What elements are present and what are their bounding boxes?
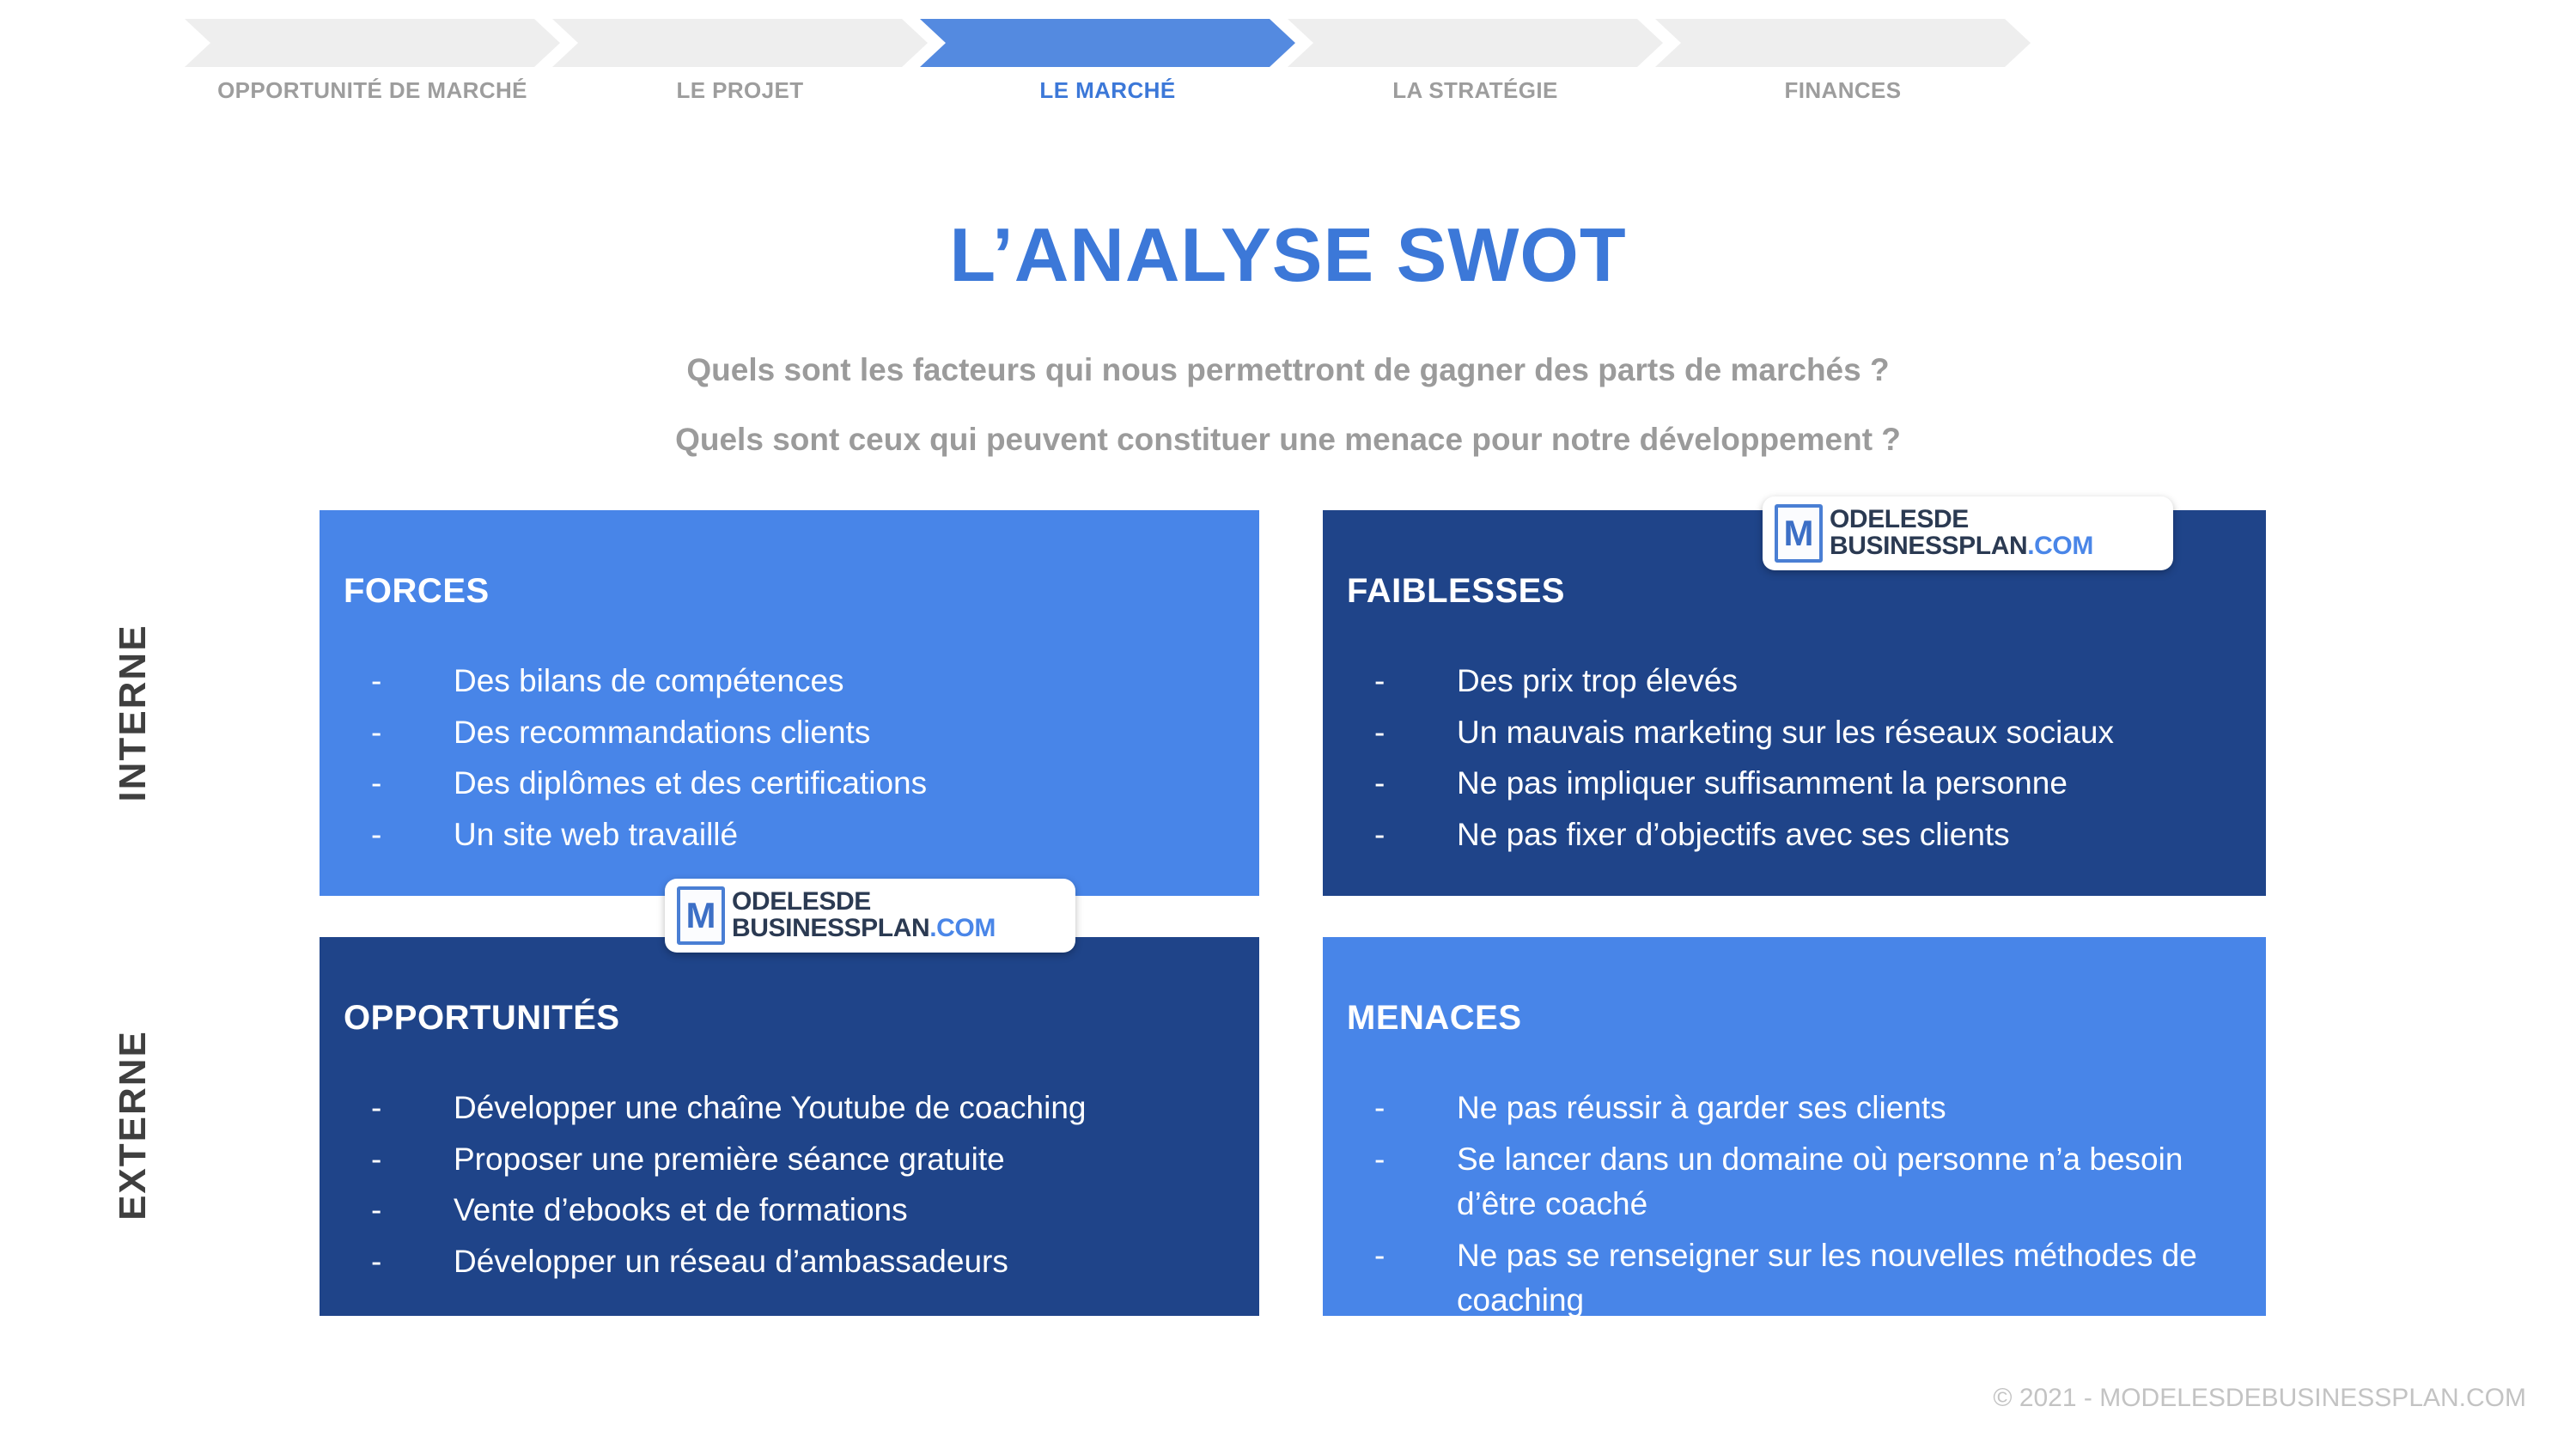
bullet-marker: - xyxy=(1374,659,1457,704)
step-label-la-strategie[interactable]: LA STRATÉGIE xyxy=(1288,77,1663,104)
logo-badge-top: M ODELESDE BUSINESSPLAN.COM xyxy=(1763,496,2173,570)
list-item-label: Vente d’ebooks et de formations xyxy=(454,1188,1247,1233)
step-chevron-le-projet[interactable] xyxy=(552,19,928,67)
bullet-marker: - xyxy=(1374,1330,1457,1375)
step-chevron-le-marche[interactable] xyxy=(920,19,1295,67)
list-item: - Se lancer dans un domaine où personne … xyxy=(1374,1137,2254,1227)
list-item: - Ne pas réussir à garder ses clients xyxy=(1374,1086,2254,1131)
quadrant-menaces: MENACES - Ne pas réussir à garder ses cl… xyxy=(1323,937,2266,1316)
step-label-le-marche[interactable]: LE MARCHÉ xyxy=(920,77,1295,104)
list-item: - Des diplômes et des certifications xyxy=(371,761,1247,807)
list-item-label: Un mauvais marketing sur les réseaux soc… xyxy=(1457,710,2254,756)
list-item: - Proposer une première séance gratuite xyxy=(371,1137,1247,1183)
bullet-marker: - xyxy=(1374,761,1457,807)
logo-line-2-main: BUSINESSPLAN xyxy=(1830,532,2027,560)
logo-line-1: ODELESDE xyxy=(1830,507,2093,533)
logo-m-glyph-label: M xyxy=(686,898,716,934)
quadrant-list-faiblesses: - Des prix trop élevés - Un mauvais mark… xyxy=(1374,659,2254,863)
page-subtitle-line-2: Quels sont ceux qui peuvent constituer u… xyxy=(0,422,2576,458)
bullet-marker: - xyxy=(371,1086,454,1131)
list-item-label: Des prix trop élevés xyxy=(1457,659,2254,704)
step-navigation: OPPORTUNITÉ DE MARCHÉ LE PROJET LE MARCH… xyxy=(0,0,2576,137)
quadrant-title-menaces: MENACES xyxy=(1347,999,1522,1038)
logo-line-2-tld: .COM xyxy=(929,914,996,942)
list-item: - Un mauvais marketing sur les réseaux s… xyxy=(1374,710,2254,756)
quadrant-opportunites: OPPORTUNITÉS - Développer une chaîne You… xyxy=(320,937,1259,1316)
quadrant-title-faiblesses: FAIBLESSES xyxy=(1347,572,1565,611)
logo-line-2-tld: .COM xyxy=(2027,532,2093,560)
list-item-label: Développer une chaîne Youtube de coachin… xyxy=(454,1086,1247,1131)
list-item: - Des bilans de compétences xyxy=(371,659,1247,704)
bullet-marker: - xyxy=(371,710,454,756)
step-chevron-la-strategie[interactable] xyxy=(1288,19,1663,67)
list-item-label: Proposer une première séance gratuite xyxy=(454,1137,1247,1183)
step-chevron-finances[interactable] xyxy=(1655,19,2031,67)
list-item-label: Développer un réseau d’ambassadeurs xyxy=(454,1239,1247,1285)
logo-m-icon: M xyxy=(677,886,725,945)
bullet-marker: - xyxy=(1374,813,1457,858)
bullet-marker: - xyxy=(1374,1137,1457,1227)
list-item: - Des prix trop élevés xyxy=(1374,659,2254,704)
quadrant-title-forces: FORCES xyxy=(344,572,490,611)
quadrant-list-forces: - Des bilans de compétences - Des recomm… xyxy=(371,659,1247,863)
list-item-label: Un site web travaillé xyxy=(454,813,1247,858)
step-label-le-projet[interactable]: LE PROJET xyxy=(552,77,928,104)
bullet-marker: - xyxy=(1374,710,1457,756)
step-label-finances[interactable]: FINANCES xyxy=(1655,77,2031,104)
list-item-label: Se lancer dans un domaine où personne n’… xyxy=(1457,1137,2254,1227)
list-item-label: Ne pas fixer d’objectifs avec ses client… xyxy=(1457,813,2254,858)
list-item: - Ne pas impliquer suffisamment la perso… xyxy=(1374,761,2254,807)
quadrant-title-opportunites: OPPORTUNITÉS xyxy=(344,999,620,1038)
quadrant-forces: FORCES - Des bilans de compétences - Des… xyxy=(320,510,1259,896)
footer-copyright: © 2021 - MODELESDEBUSINESSPLAN.COM xyxy=(1993,1384,2526,1413)
list-item: - Vente d’ebooks et de formations xyxy=(371,1188,1247,1233)
list-item: - Un site web travaillé xyxy=(371,813,1247,858)
list-item: - Développer une chaîne Youtube de coach… xyxy=(371,1086,1247,1131)
bullet-marker: - xyxy=(371,1188,454,1233)
logo-wordmark: ODELESDE BUSINESSPLAN.COM xyxy=(732,889,996,942)
list-item: - Ne pas se renseigner sur les nouvelles… xyxy=(1374,1233,2254,1324)
bullet-marker: - xyxy=(371,1239,454,1285)
list-item-label: Des recommandations clients xyxy=(454,710,1247,756)
logo-line-2: BUSINESSPLAN.COM xyxy=(1830,533,2093,560)
list-item: - Ne pas fixer d’objectifs avec ses clie… xyxy=(1374,813,2254,858)
bullet-marker: - xyxy=(371,659,454,704)
logo-badge-bottom: M ODELESDE BUSINESSPLAN.COM xyxy=(665,879,1075,953)
list-item-label: Passer pour un incompétent xyxy=(1457,1330,2254,1375)
quadrant-list-opportunites: - Développer une chaîne Youtube de coach… xyxy=(371,1086,1247,1290)
list-item: - Développer un réseau d’ambassadeurs xyxy=(371,1239,1247,1285)
axis-label-interne: INTERNE xyxy=(112,533,155,893)
step-label-opportunite-de-marche[interactable]: OPPORTUNITÉ DE MARCHÉ xyxy=(185,77,560,104)
list-item: - Passer pour un incompétent xyxy=(1374,1330,2254,1375)
bullet-marker: - xyxy=(371,813,454,858)
list-item-label: Ne pas réussir à garder ses clients xyxy=(1457,1086,2254,1131)
logo-m-icon: M xyxy=(1775,504,1823,563)
list-item-label: Ne pas se renseigner sur les nouvelles m… xyxy=(1457,1233,2254,1324)
step-chevron-opportunite-de-marche[interactable] xyxy=(185,19,560,67)
axis-label-externe: EXTERNE xyxy=(112,945,155,1306)
bullet-marker: - xyxy=(1374,1086,1457,1131)
logo-line-2: BUSINESSPLAN.COM xyxy=(732,916,996,942)
page-subtitle-line-1: Quels sont les facteurs qui nous permett… xyxy=(0,352,2576,388)
bullet-marker: - xyxy=(1374,1233,1457,1324)
list-item-label: Des diplômes et des certifications xyxy=(454,761,1247,807)
logo-m-glyph-label: M xyxy=(1784,515,1814,551)
list-item-label: Des bilans de compétences xyxy=(454,659,1247,704)
list-item-label: Ne pas impliquer suffisamment la personn… xyxy=(1457,761,2254,807)
page-title: L’ANALYSE SWOT xyxy=(0,211,2576,299)
list-item: - Des recommandations clients xyxy=(371,710,1247,756)
logo-line-2-main: BUSINESSPLAN xyxy=(732,914,929,942)
bullet-marker: - xyxy=(371,761,454,807)
quadrant-list-menaces: - Ne pas réussir à garder ses clients - … xyxy=(1374,1086,2254,1380)
logo-line-1: ODELESDE xyxy=(732,889,996,916)
bullet-marker: - xyxy=(371,1137,454,1183)
logo-wordmark: ODELESDE BUSINESSPLAN.COM xyxy=(1830,507,2093,560)
